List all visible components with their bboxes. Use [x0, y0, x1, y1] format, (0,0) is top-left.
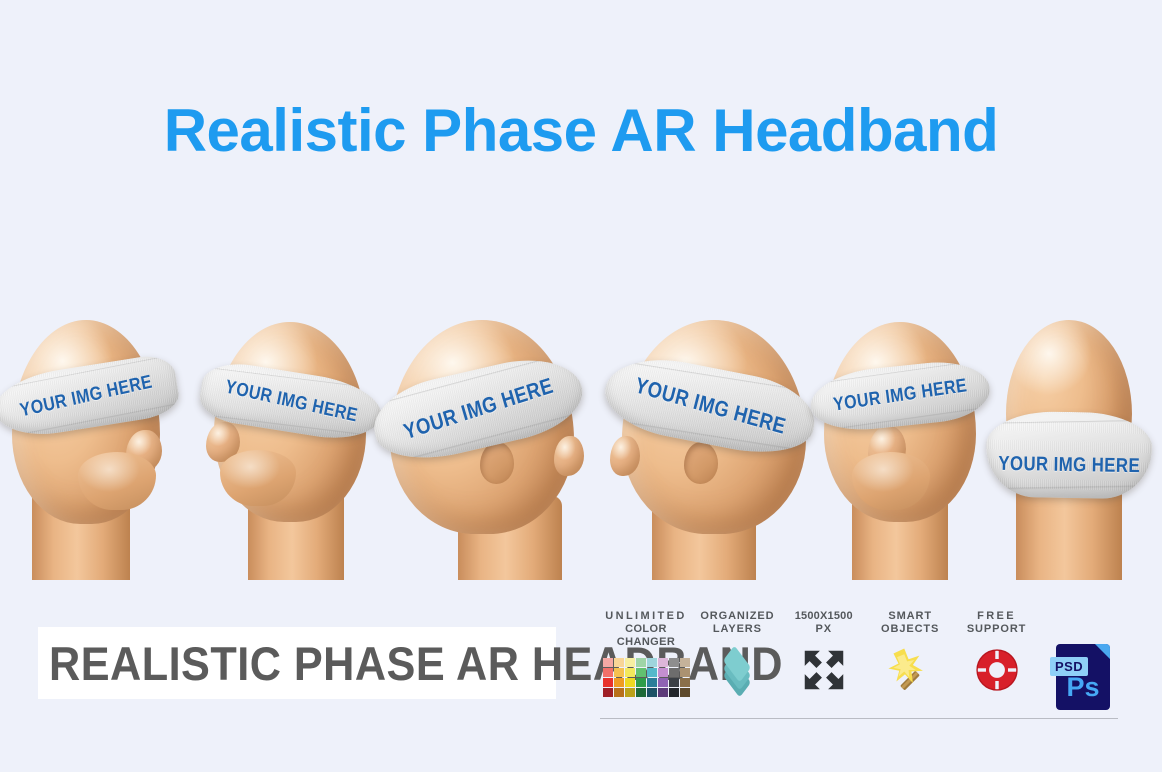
feature-free-support: FREE SUPPORT — [954, 610, 1040, 696]
feature-icon — [975, 644, 1019, 696]
color-swatch-5[interactable] — [658, 658, 668, 667]
color-swatch-27[interactable] — [636, 688, 646, 697]
color-swatch-31[interactable] — [680, 688, 690, 697]
feature-icon — [714, 644, 760, 696]
feature-label: 1500X1500 PX — [795, 610, 853, 636]
feature-label-line1: ORGANIZED — [700, 610, 774, 623]
color-swatch-29[interactable] — [658, 688, 668, 697]
band-placeholder-text: YOUR IMG HERE — [998, 452, 1140, 477]
mockup-head-2: YOUR IMG HERE — [196, 308, 386, 580]
feature-icon: PSD Ps — [1056, 644, 1110, 710]
chin — [852, 452, 930, 510]
color-swatch-12[interactable] — [647, 668, 657, 677]
color-swatch-30[interactable] — [669, 688, 679, 697]
color-swatch-9[interactable] — [614, 668, 624, 677]
band-placeholder-text: YOUR IMG HERE — [400, 373, 555, 445]
footer-divider — [600, 718, 1118, 719]
feature-label-line1: FREE — [967, 610, 1026, 623]
psd-file-icon: PSD Ps — [1056, 644, 1110, 710]
band-placeholder-text: YOUR IMG HERE — [832, 375, 968, 416]
magic-wand-icon — [886, 647, 934, 693]
feature-icon — [802, 644, 846, 696]
mockup-head-6: YOUR IMG HERE — [980, 308, 1162, 580]
color-swatch-4[interactable] — [647, 658, 657, 667]
feature-label: UNLIMITED COLOR CHANGER — [598, 610, 694, 649]
mockup-head-1: YOUR IMG HERE — [0, 308, 190, 580]
color-swatch-28[interactable] — [647, 688, 657, 697]
feature-label-line1: SMART — [881, 610, 939, 623]
color-swatch-22[interactable] — [669, 678, 679, 687]
color-swatch-20[interactable] — [647, 678, 657, 687]
color-swatch-10[interactable] — [625, 668, 635, 677]
feature-label-line2: COLOR CHANGER — [598, 623, 694, 649]
color-swatch-23[interactable] — [680, 678, 690, 687]
color-swatch-11[interactable] — [636, 668, 646, 677]
color-swatch-8[interactable] — [603, 668, 613, 677]
chin — [220, 450, 296, 506]
feature-label-line2: LAYERS — [700, 623, 774, 636]
feature-label-line2: PX — [795, 623, 853, 636]
psd-file-app-label: Ps — [1056, 672, 1110, 703]
ear — [480, 442, 514, 484]
nose — [554, 436, 584, 476]
stacked-layers-icon — [714, 648, 760, 692]
feature-icon — [886, 644, 934, 696]
feature-unlimited-color-changer: UNLIMITED COLOR CHANGER — [598, 610, 694, 697]
color-swatch-13[interactable] — [658, 668, 668, 677]
page-title: Realistic Phase AR Headband — [0, 96, 1162, 165]
expand-arrows-icon — [802, 648, 846, 692]
color-swatch-6[interactable] — [669, 658, 679, 667]
feature-label: SMART OBJECTS — [881, 610, 939, 636]
color-swatch-21[interactable] — [658, 678, 668, 687]
color-swatch-0[interactable] — [603, 658, 613, 667]
color-swatch-16[interactable] — [603, 678, 613, 687]
feature-label-line2: SUPPORT — [967, 623, 1026, 636]
color-swatch-18[interactable] — [625, 678, 635, 687]
headband-band: YOUR IMG HERE — [985, 411, 1152, 500]
band-placeholder-text: YOUR IMG HERE — [18, 372, 154, 423]
color-swatch-14[interactable] — [669, 668, 679, 677]
feature-label-line1: UNLIMITED — [598, 610, 694, 623]
band-placeholder-text: YOUR IMG HERE — [223, 377, 359, 428]
feature-label: FREE SUPPORT — [967, 610, 1026, 636]
feature-label: ORGANIZED LAYERS — [700, 610, 774, 636]
color-swatch-26[interactable] — [625, 688, 635, 697]
color-swatch-3[interactable] — [636, 658, 646, 667]
mockup-stage: YOUR IMG HERE YOUR IMG HERE YOUR IMG HER… — [0, 300, 1162, 580]
feature-label-line2: OBJECTS — [881, 623, 939, 636]
product-name-banner: REALISTIC PHASE AR HEADBAND — [38, 627, 556, 699]
chin — [78, 452, 156, 510]
feature-label-line1: 1500X1500 — [795, 610, 853, 623]
color-swatch-19[interactable] — [636, 678, 646, 687]
mockup-head-5: YOUR IMG HERE — [808, 308, 998, 580]
color-swatch-grid-icon — [603, 658, 690, 697]
ear — [684, 442, 718, 484]
color-swatch-2[interactable] — [625, 658, 635, 667]
mockup-head-3: YOUR IMG HERE — [372, 308, 596, 580]
color-swatch-24[interactable] — [603, 688, 613, 697]
mockup-head-4: YOUR IMG HERE — [596, 308, 822, 580]
lifebuoy-icon — [975, 648, 1019, 692]
band-placeholder-text: YOUR IMG HERE — [632, 372, 788, 439]
feature-psd-file: PSD Ps — [1040, 610, 1126, 710]
feature-list: UNLIMITED COLOR CHANGER ORGANIZED LAYERS… — [598, 610, 1126, 710]
color-swatch-1[interactable] — [614, 658, 624, 667]
feature-smart-objects: SMART OBJECTS — [867, 610, 953, 696]
color-swatch-7[interactable] — [680, 658, 690, 667]
color-swatch-25[interactable] — [614, 688, 624, 697]
feature-organized-layers: ORGANIZED LAYERS — [694, 610, 780, 696]
feature-dimensions: 1500X1500 PX — [781, 610, 867, 696]
color-swatch-17[interactable] — [614, 678, 624, 687]
color-swatch-15[interactable] — [680, 668, 690, 677]
